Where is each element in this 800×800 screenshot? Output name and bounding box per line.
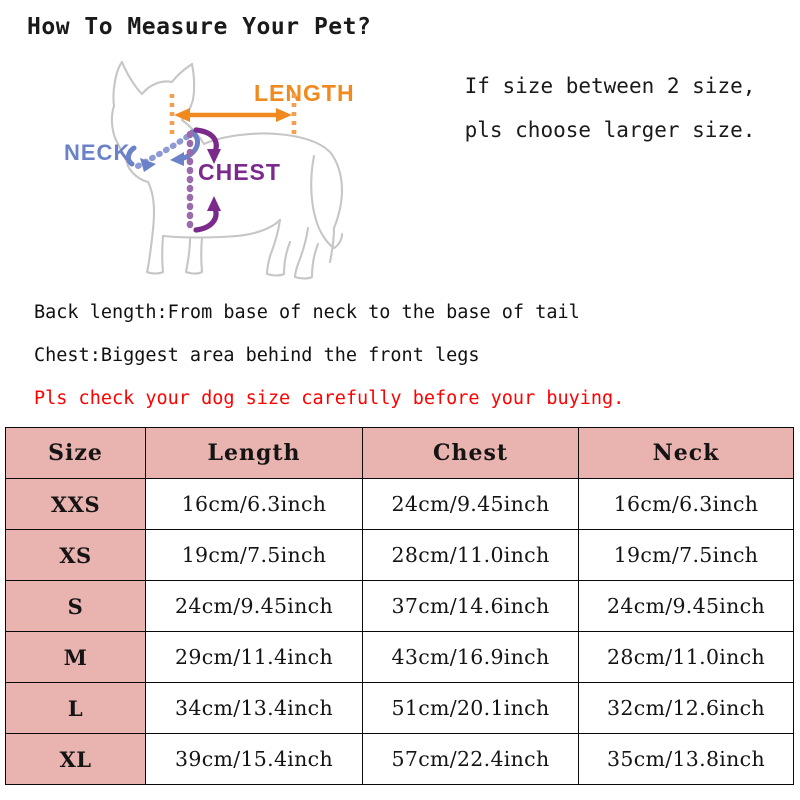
table-row: XS 19cm/7.5inch 28cm/11.0inch 19cm/7.5in… — [6, 530, 794, 581]
measurement-descriptions: Back length:From base of neck to the bas… — [34, 291, 624, 420]
cell-length: 34cm/13.4inch — [146, 683, 363, 734]
column-header-chest: Chest — [363, 428, 579, 479]
cell-chest: 51cm/20.1inch — [363, 683, 579, 734]
cell-chest: 28cm/11.0inch — [363, 530, 579, 581]
cell-chest: 57cm/22.4inch — [363, 734, 579, 785]
table-row: S 24cm/9.45inch 37cm/14.6inch 24cm/9.45i… — [6, 581, 794, 632]
chest-arrow-head-bottom — [207, 196, 221, 211]
page-title: How To Measure Your Pet? — [27, 14, 371, 40]
chest-description: Chest:Biggest area behind the front legs — [34, 334, 624, 377]
table-header-row: Size Length Chest Neck — [6, 428, 794, 479]
cell-neck: 35cm/13.8inch — [579, 734, 794, 785]
cell-neck: 19cm/7.5inch — [579, 530, 794, 581]
chest-label: CHEST — [198, 159, 281, 185]
size-check-warning: Pls check your dog size carefully before… — [34, 377, 624, 420]
length-label: LENGTH — [254, 80, 355, 106]
back-length-description: Back length:From base of neck to the bas… — [34, 291, 624, 334]
cell-neck: 32cm/12.6inch — [579, 683, 794, 734]
cell-size: M — [6, 632, 146, 683]
table-row: XXS 16cm/6.3inch 24cm/9.45inch 16cm/6.3i… — [6, 479, 794, 530]
cell-length: 19cm/7.5inch — [146, 530, 363, 581]
column-header-length: Length — [146, 428, 363, 479]
cell-size: XL — [6, 734, 146, 785]
table-row: M 29cm/11.4inch 43cm/16.9inch 28cm/11.0i… — [6, 632, 794, 683]
cell-size: XXS — [6, 479, 146, 530]
cell-neck: 16cm/6.3inch — [579, 479, 794, 530]
cell-size: L — [6, 683, 146, 734]
cell-neck: 28cm/11.0inch — [579, 632, 794, 683]
cell-length: 24cm/9.45inch — [146, 581, 363, 632]
length-arrow-head-right — [276, 108, 292, 122]
size-advice-line-2: pls choose larger size. — [430, 108, 790, 152]
table-row: XL 39cm/15.4inch 57cm/22.4inch 35cm/13.8… — [6, 734, 794, 785]
size-advice-line-1: If size between 2 size, — [430, 64, 790, 108]
cell-length: 29cm/11.4inch — [146, 632, 363, 683]
cell-length: 39cm/15.4inch — [146, 734, 363, 785]
size-advice-note: If size between 2 size, pls choose large… — [430, 64, 790, 152]
pet-measurement-diagram: LENGTH NECK CHEST — [62, 48, 407, 283]
column-header-size: Size — [6, 428, 146, 479]
cell-size: XS — [6, 530, 146, 581]
column-header-neck: Neck — [579, 428, 794, 479]
cell-length: 16cm/6.3inch — [146, 479, 363, 530]
cell-chest: 37cm/14.6inch — [363, 581, 579, 632]
cell-neck: 24cm/9.45inch — [579, 581, 794, 632]
cell-chest: 24cm/9.45inch — [363, 479, 579, 530]
neck-label: NECK — [64, 140, 130, 165]
cell-chest: 43cm/16.9inch — [363, 632, 579, 683]
cell-size: S — [6, 581, 146, 632]
table-row: L 34cm/13.4inch 51cm/20.1inch 32cm/12.6i… — [6, 683, 794, 734]
size-chart-table: Size Length Chest Neck XXS 16cm/6.3inch … — [5, 427, 794, 785]
neck-arrow-head-b — [170, 152, 184, 166]
